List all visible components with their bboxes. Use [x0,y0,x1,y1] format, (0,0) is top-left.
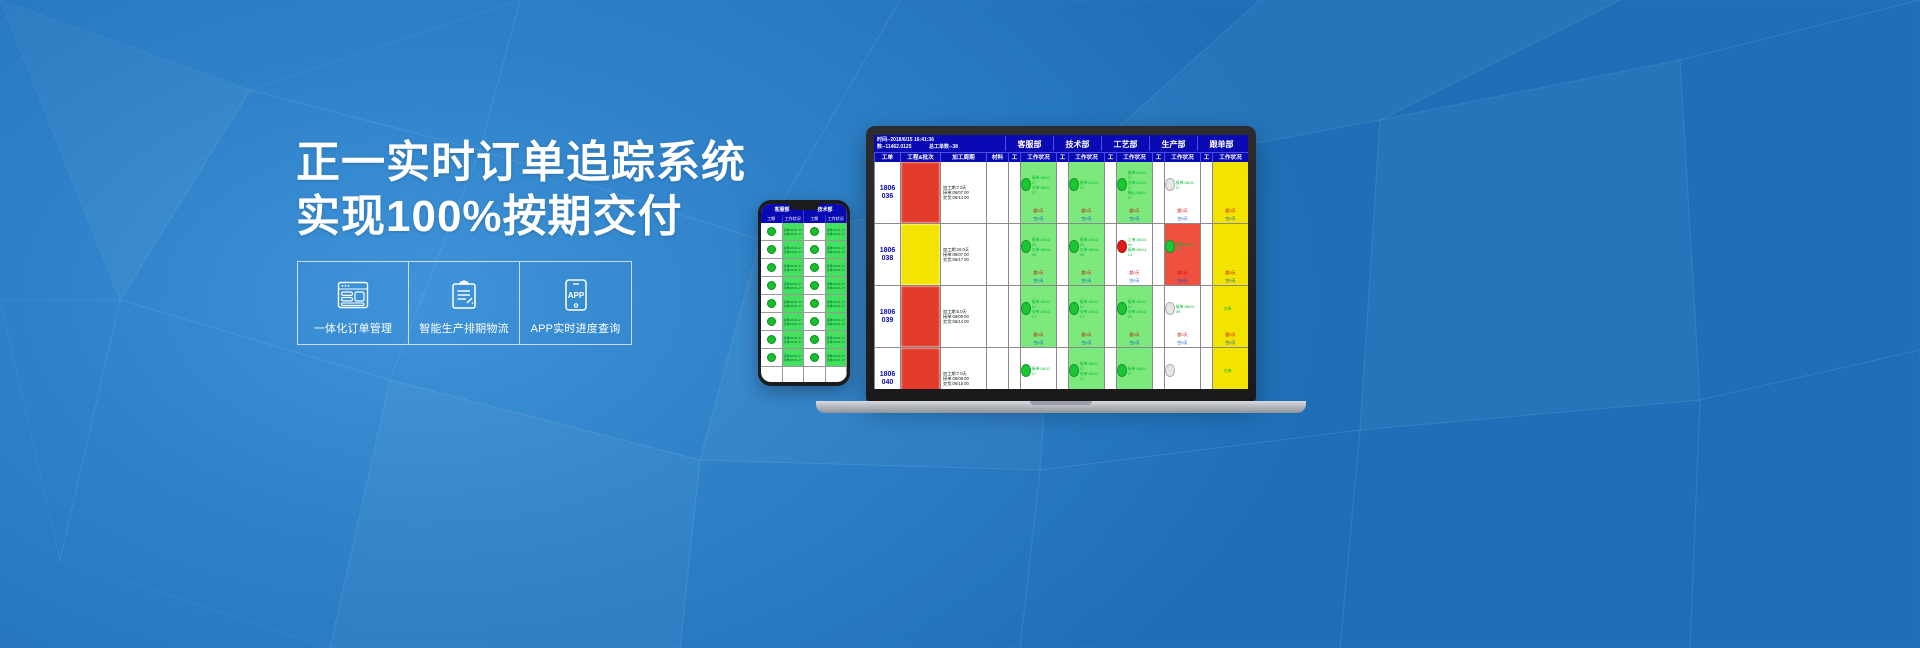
status-indicator-dot [1165,302,1175,315]
idle-badge: 空0天 [1069,339,1104,347]
phone-status-cell[interactable]: 接单:06/11 17交单:06/11 17 [783,349,804,367]
phone-grid-column [804,223,826,382]
phone-col: 工期 [804,215,826,223]
overdue-badge: 超0天 [1069,269,1104,277]
phone-notch [789,204,819,210]
idle-badge: 空0天 [1213,339,1248,347]
material-cell[interactable] [987,286,1008,348]
phone-status-cell[interactable]: 接单:06/11 17交单:06/11 17 [826,349,847,367]
duration-cell[interactable] [1057,162,1068,224]
processing-cycle-cell[interactable]: 加工期:10.0天接单:06/07 00交货:06/17 00 [941,224,986,286]
page-title-line1: 正一实时订单追踪系统 [296,138,716,188]
phone-duration-cell[interactable] [804,295,825,313]
phone-status-cell[interactable]: 接单:06/11 17交单:06/11 17 [783,241,804,259]
status-indicator-dot [1021,364,1031,377]
work-status-cell[interactable]: 接单:06/11 17交单:06/11 17超0天空0天 [1069,286,1104,348]
work-status-cell[interactable]: 交单:超0天空0天 [1213,286,1248,348]
department-3: 工艺部 [1101,136,1149,151]
phone-duration-cell[interactable] [804,277,825,295]
duration-cell[interactable] [1009,286,1020,348]
dashboard-total: 总工单数--38 [929,144,958,151]
overdue-badge: 超0天 [1117,269,1152,277]
duration-cell[interactable] [1153,162,1164,224]
status-detail-text: 接单:04/11 17 [1079,179,1104,191]
status-indicator-dot [1117,178,1127,191]
phone-status-text: 接单:06/11 17交单:06/11 17 [827,228,845,236]
feature-item-production-schedule[interactable]: 智能生产排期物流 [409,262,520,344]
column-header[interactable]: 工作状况 [1212,152,1248,162]
status-detail-text: 接单:06/11 17交单:06/11 17 [1031,298,1056,320]
idle-badge: 空0天 [1213,215,1248,223]
column-header[interactable]: 材料 [986,152,1008,162]
status-indicator-dot [810,317,819,326]
work-status-cell[interactable]: 交单:超1天空1天 [1213,348,1248,389]
phone-duration-cell[interactable] [761,331,782,349]
phone-status-text: 接单:06/11 17交单:06/11 17 [784,318,802,326]
department-5: 跟单部 [1197,136,1245,151]
status-detail-text: 接单:06/14 13 [1175,241,1200,253]
phone-grid-column: 接单:06/11 17交单:06/11 17接单:06/11 17交单:06/1… [783,223,805,382]
status-indicator-dot [1021,302,1031,315]
work-status-cell[interactable]: 接单:06/11 17超1天空1天 [1117,348,1152,389]
idle-badge: 空0天 [1069,277,1104,285]
dashboard-header: 时间--2018/6/15 16:41:36 数--11462.0125 总工单… [874,135,1248,152]
grid-column [1104,162,1116,389]
status-indicator-dot [1069,240,1079,253]
phone-status-text: 接单:06/11 17交单:06/11 17 [784,336,802,344]
column-header[interactable]: 工程&批次 [900,152,940,162]
phone-status-cell[interactable]: 接单:06/11 17交单:06/11 17 [826,331,847,349]
grid-column: 接单:06/11 17交单:06/11 17超0天空0天接单:06/12 20交… [1020,162,1056,389]
duration-cell[interactable] [1009,224,1020,286]
idle-badge: 空0天 [1069,215,1104,223]
duration-cell[interactable] [1057,224,1068,286]
phone-duration-cell[interactable] [804,259,825,277]
overdue-badge: 超0天 [1069,207,1104,215]
material-cell[interactable] [987,224,1008,286]
phone-status-cell[interactable]: 接单:06/11 17交单:06/11 17 [826,277,847,295]
idle-badge: 空0天 [1165,339,1200,347]
phone-col: 工作状况 [783,215,805,223]
status-indicator-dot [810,353,819,362]
duration-cell[interactable] [1105,162,1116,224]
duration-cell[interactable] [1105,286,1116,348]
status-indicator-dot [1069,302,1079,315]
duration-cell[interactable] [1153,348,1164,389]
page-title-line2: 实现100%按期交付 [296,192,716,242]
status-detail-text: 接单:06/11 17交单:06/11 17 [1031,174,1056,196]
dashboard-grid[interactable]: 1806036180603818060391806040加工期:7.0天接单:0… [874,162,1248,389]
phone-grid-column [761,223,783,382]
department-4: 生产部 [1149,136,1197,151]
status-indicator-dot [767,317,776,326]
column-header-row: 工单工程&批次加工周期材料工期工作状况工期工作状况工期工作状况工期工作状况工期工… [874,152,1248,162]
grid-column [1056,162,1068,389]
phone-status-text: 接单:06/11 17交单:06/11 17 [784,300,802,308]
idle-badge: 空0天 [1117,339,1152,347]
status-detail-text: 接单:04/11 17交单:04/11 17确认:06/11 17 [1127,169,1152,201]
phone-col: 工期 [761,215,783,223]
phone-status-cell[interactable]: 接单:06/11 17交单:06/11 17 [826,223,847,241]
order-id-cell[interactable]: 1806036 [875,162,900,224]
column-header[interactable]: 工期 [1152,152,1164,162]
column-header[interactable]: 工作状况 [1068,152,1104,162]
laptop-base [816,401,1306,413]
grid-column: 加工期:7.0天接单:06/07 00交货:06/14 00加工期:10.0天接… [940,162,986,389]
status-indicator-dot [767,335,776,344]
phone-status-text: 接单:06/11 17交单:06/11 17 [827,318,845,326]
phone-status-text: 接单:06/11 17交单:06/11 17 [827,246,845,254]
status-indicator-dot [1165,178,1175,191]
column-header[interactable]: 工作状况 [1116,152,1152,162]
idle-badge: 空0天 [1021,215,1056,223]
work-status-cell[interactable]: 接单:06/11 17交单:06/11 17超1天空1天 [1069,348,1104,389]
status-detail-text [1223,184,1248,186]
material-cell[interactable] [987,348,1008,389]
work-status-cell[interactable]: 接单:06/14 13超0天空0天 [1165,224,1200,286]
status-indicator-dot [767,245,776,254]
idle-badge: 空0天 [1165,215,1200,223]
work-status-cell[interactable]: 接单:06/11 17超0天空0天 [1165,162,1200,224]
phone-status-cell[interactable]: 接单:06/11 17交单:06/11 17 [783,331,804,349]
grid-column [1008,162,1020,389]
phone-status-text: 接单:06/11 17交单:06/11 17 [827,264,845,272]
overdue-badge: 超0天 [1021,269,1056,277]
phone-status-text: 接单:06/11 17交单:06/11 17 [827,354,845,362]
status-detail-text: 接单:06/11 17 [1175,179,1200,191]
work-status-cell[interactable]: 工单:06/14 04接单:06/14 14超0天空0天 [1117,224,1152,286]
status-indicator-dot [1021,178,1031,191]
duration-cell[interactable] [1105,348,1116,389]
work-status-cell[interactable]: 超1天空1天 [1165,348,1200,389]
work-status-cell[interactable]: 接单:06/11 17交单:06/11 17超0天空0天 [1021,286,1056,348]
status-indicator-dot [810,227,819,236]
phone-status-cell[interactable]: 接单:06/11 17交单:06/11 17 [826,259,847,277]
column-header[interactable]: 工期 [1200,152,1212,162]
status-detail-text: 接单:06/12 09 [1175,303,1200,315]
grid-column: 超0天空0天超0天空0天交单:超0天空0天交单:超1天空1天 [1212,162,1248,389]
status-detail-text: 接单:06/11 17 [1127,365,1152,377]
status-indicator-dot [1117,240,1127,253]
feature-item-app-progress[interactable]: APP APP实时进度查询 [520,262,631,344]
device-mockups: 客服部 技术部 工期 工作状况 工期 工作状况 接单:06/11 17交单:06… [0,0,1920,648]
duration-cell[interactable] [1105,224,1116,286]
duration-cell[interactable] [1009,162,1020,224]
phone-status-cell[interactable]: 接单:06/11 17交单:06/11 17 [826,241,847,259]
feature-item-order-management[interactable]: 一体化订单管理 [298,262,409,344]
grid-column: 接单:04/11 17超0天空0天接单:06/12 20交单:06/14 04超… [1068,162,1104,389]
overdue-badge: 超0天 [1213,331,1248,339]
work-status-cell[interactable]: 接单:06/11 17交单:06/11 17超0天空0天 [1021,162,1056,224]
idle-badge: 空0天 [1021,277,1056,285]
column-header[interactable]: 工期 [1056,152,1068,162]
work-status-cell[interactable]: 接单:04/11 17交单:04/11 17确认:06/11 17超0天空0天 [1117,162,1152,224]
status-detail-text: 工单:06/14 04接单:06/14 14 [1127,236,1152,258]
phone-status-cell[interactable]: 接单:06/11 17交单:06/11 17 [783,295,804,313]
department-2: 技术部 [1053,136,1101,151]
phone-status-cell[interactable]: 接单:06/11 17交单:06/11 17 [783,313,804,331]
work-status-cell[interactable]: 接单:06/12 20交单:06/14 04超0天空0天 [1069,224,1104,286]
status-detail-text: 交单: [1223,305,1248,312]
duration-cell[interactable] [1009,348,1020,389]
status-detail-text [1223,246,1248,248]
status-detail-text: 接单:06/11 17交单:06/11 17 [1079,298,1104,320]
idle-badge: 空0天 [1117,277,1152,285]
phone-grid-column: 接单:06/11 17交单:06/11 17接单:06/11 17交单:06/1… [826,223,848,382]
grid-column [900,162,940,389]
overdue-badge: 超0天 [1165,207,1200,215]
duration-cell[interactable] [1201,286,1212,348]
phone-screen: 客服部 技术部 工期 工作状况 工期 工作状况 接单:06/11 17交单:06… [761,204,847,382]
phone-mockup: 客服部 技术部 工期 工作状况 工期 工作状况 接单:06/11 17交单:06… [758,200,850,386]
phone-status-text: 接单:06/11 17交单:06/11 17 [827,300,845,308]
overdue-badge: 超0天 [1021,331,1056,339]
phone-duration-cell[interactable] [761,277,782,295]
processing-cycle-cell[interactable]: 加工期:5.0天接单:06/09 00交货:06/14 00 [941,286,986,348]
overdue-badge: 超0天 [1165,331,1200,339]
status-indicator-dot [767,353,776,362]
status-indicator-dot [1117,302,1127,315]
grid-column: 接单:06/11 17超0天空0天接单:06/14 13超0天空0天接单:06/… [1164,162,1200,389]
overdue-badge: 超0天 [1117,331,1152,339]
duration-cell[interactable] [1057,348,1068,389]
idle-badge: 空0天 [1021,339,1056,347]
work-status-cell[interactable]: 接单:06/11 17超1天空1天 [1021,348,1056,389]
work-status-cell[interactable]: 接单:04/11 17超0天空0天 [1069,162,1104,224]
phone-duration-cell[interactable] [804,349,825,367]
overdue-badge: 超0天 [1213,207,1248,215]
project-batch-cell[interactable] [901,286,940,348]
phone-table-body[interactable]: 接单:06/11 17交单:06/11 17接单:06/11 17交单:06/1… [761,223,847,382]
phone-status-cell[interactable]: 接单:06/11 17交单:06/11 17 [826,295,847,313]
phone-status-text: 接单:06/11 17交单:06/11 17 [827,282,845,290]
phone-duration-cell[interactable] [804,331,825,349]
idle-badge: 空0天 [1165,277,1200,285]
column-header[interactable]: 工期 [1008,152,1020,162]
processing-cycle-cell[interactable]: 加工期:7.0天接单:06/08 00交货:06/15 00 [941,348,986,389]
duration-cell[interactable] [1201,348,1212,389]
phone-duration-cell[interactable] [761,259,782,277]
work-status-cell[interactable]: 接单:06/11 17交单:06/12 09超0天空0天 [1117,286,1152,348]
grid-column [1200,162,1212,389]
duration-cell[interactable] [1153,286,1164,348]
material-cell[interactable] [987,162,1008,224]
laptop-screen: 时间--2018/6/15 16:41:36 数--11462.0125 总工单… [874,135,1248,389]
phone-status-cell[interactable]: 接单:06/11 17交单:06/11 17 [783,259,804,277]
phone-status-text: 接单:06/11 17交单:06/11 17 [827,336,845,344]
grid-column [986,162,1008,389]
phone-status-text: 接单:06/11 17交单:06/11 17 [784,264,802,272]
status-indicator-dot [810,335,819,344]
overdue-badge: 超0天 [1069,331,1104,339]
status-indicator-dot [810,299,819,308]
order-card-icon [336,275,370,315]
status-detail-text: 接单:06/12 20交单:06/14 04 [1031,236,1056,258]
status-detail-text: 接单:06/11 17交单:06/12 09 [1127,298,1152,320]
department-1: 客服部 [1005,136,1053,151]
status-indicator-dot [810,281,819,290]
overdue-badge: 超0天 [1117,207,1152,215]
mobile-app-icon: APP [563,275,589,315]
laptop-lid: 时间--2018/6/15 16:41:36 数--11462.0125 总工单… [866,126,1256,401]
grid-column: 接单:04/11 17交单:04/11 17确认:06/11 17超0天空0天工… [1116,162,1152,389]
status-indicator-dot [767,299,776,308]
hero-copy: 正一实时订单追踪系统 实现100%按期交付 [296,138,716,242]
project-batch-cell[interactable] [901,348,940,389]
duration-cell[interactable] [1057,286,1068,348]
processing-cycle-cell[interactable]: 加工期:7.0天接单:06/07 00交货:06/14 00 [941,162,986,224]
phone-status-text: 接单:06/11 17交单:06/11 17 [784,282,802,290]
overdue-badge: 超0天 [1213,269,1248,277]
phone-duration-cell[interactable] [804,223,825,241]
status-detail-text: 交单: [1223,367,1248,374]
status-indicator-dot [1069,178,1079,191]
column-header[interactable]: 工作状况 [1164,152,1200,162]
phone-duration-cell[interactable] [761,295,782,313]
column-header[interactable]: 工单 [874,152,900,162]
status-indicator-dot [1117,364,1127,377]
status-indicator-dot [810,245,819,254]
order-id-cell[interactable]: 1806040 [875,348,900,389]
project-batch-cell[interactable] [901,224,940,286]
status-detail-text [1175,370,1200,372]
feature-list: 一体化订单管理 智能生产排期物流 APP AP [297,261,632,345]
status-indicator-dot [767,263,776,272]
feature-label: APP实时进度查询 [531,320,621,336]
phone-status-cell[interactable]: 接单:06/11 17交单:06/11 17 [826,313,847,331]
phone-duration-cell[interactable] [761,223,782,241]
order-tracking-dashboard[interactable]: 时间--2018/6/15 16:41:36 数--11462.0125 总工单… [874,135,1248,389]
phone-duration-cell[interactable] [761,313,782,331]
status-indicator-dot [767,227,776,236]
status-detail-text: 接单:06/11 17 [1031,365,1056,377]
app-badge-text: APP [567,291,584,300]
status-detail-text: 接单:06/12 20交单:06/14 04 [1079,236,1104,258]
grid-column: 1806036180603818060391806040 [874,162,900,389]
clipboard-schedule-icon [448,275,480,315]
phone-status-cell[interactable]: 接单:06/11 17交单:06/11 17 [783,223,804,241]
grid-column [1152,162,1164,389]
duration-cell[interactable] [1201,162,1212,224]
phone-status-text: 接单:06/11 17交单:06/11 17 [784,246,802,254]
column-header[interactable]: 工作状况 [1020,152,1056,162]
phone-duration-cell[interactable] [804,313,825,331]
order-id-cell[interactable]: 1806038 [875,224,900,286]
status-indicator-dot [767,281,776,290]
phone-duration-cell[interactable] [761,241,782,259]
phone-duration-cell[interactable] [761,349,782,367]
duration-cell[interactable] [1201,224,1212,286]
work-status-cell[interactable]: 接单:06/12 20交单:06/14 04超0天空0天 [1021,224,1056,286]
feature-label: 一体化订单管理 [314,320,392,336]
status-indicator-dot [1165,364,1175,377]
dashboard-meta: 时间--2018/6/15 16:41:36 数--11462.0125 总工单… [877,137,1005,151]
idle-badge: 空0天 [1117,215,1152,223]
column-header[interactable]: 加工周期 [940,152,986,162]
phone-duration-cell[interactable] [804,241,825,259]
laptop-mockup: 时间--2018/6/15 16:41:36 数--11462.0125 总工单… [866,126,1306,413]
overdue-badge: 超0天 [1021,207,1056,215]
dashboard-count: 数--11462.0125 [877,144,929,151]
overdue-badge: 超0天 [1165,269,1200,277]
phone-column-header: 工期 工作状况 工期 工作状况 [761,215,847,223]
idle-badge: 空0天 [1213,277,1248,285]
phone-col: 工作状况 [826,215,848,223]
order-id-cell[interactable]: 1806039 [875,286,900,348]
duration-cell[interactable] [1153,224,1164,286]
work-status-cell[interactable]: 超0天空0天 [1213,224,1248,286]
dashboard-time: 时间--2018/6/15 16:41:36 [877,137,1005,144]
status-indicator-dot [1069,364,1079,377]
work-status-cell[interactable]: 超0天空0天 [1213,162,1248,224]
status-indicator-dot [1165,240,1175,253]
project-batch-cell[interactable] [901,162,940,224]
phone-status-cell[interactable]: 接单:06/11 17交单:06/11 17 [783,277,804,295]
status-detail-text: 接单:06/11 17交单:06/11 17 [1079,360,1104,382]
column-header[interactable]: 工期 [1104,152,1116,162]
status-indicator-dot [1021,240,1031,253]
status-indicator-dot [810,263,819,272]
phone-status-text: 接单:06/11 17交单:06/11 17 [784,354,802,362]
department-header-row: 客服部技术部工艺部生产部跟单部 [1005,136,1245,151]
work-status-cell[interactable]: 接单:06/12 09超0天空0天 [1165,286,1200,348]
phone-status-text: 接单:06/11 17交单:06/11 17 [784,228,802,236]
feature-label: 智能生产排期物流 [419,320,509,336]
